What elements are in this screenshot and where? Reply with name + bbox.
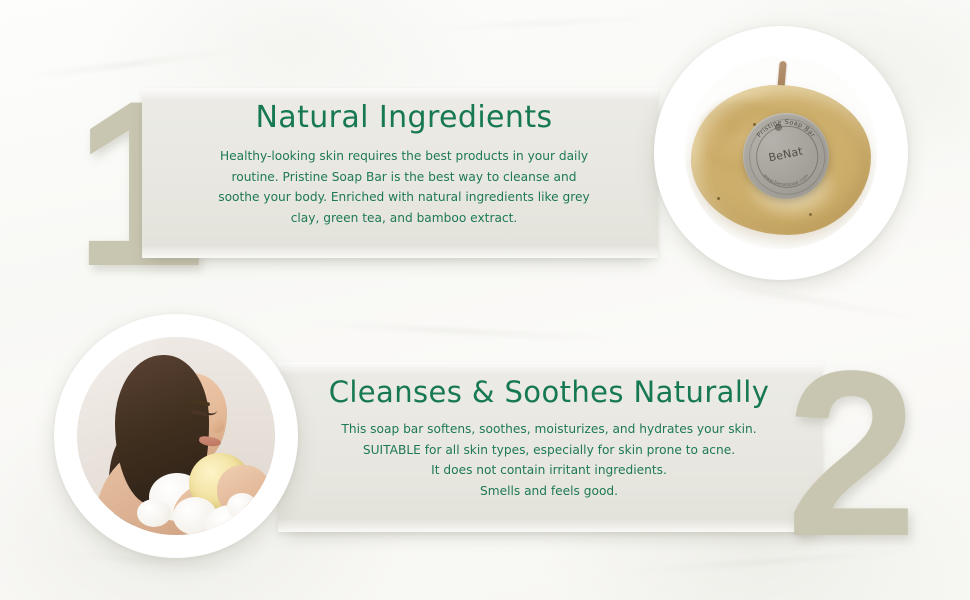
nose: [211, 419, 224, 433]
step-1-body-line: Healthy-looking skin requires the best p…: [218, 146, 589, 167]
shower-photo-inner: [77, 337, 275, 535]
step-number-2: 2: [786, 336, 913, 572]
step-2-body: This soap bar softens, soothes, moisturi…: [341, 419, 756, 501]
step-1-body-line: soothe your body. Enriched with natural …: [218, 187, 589, 208]
step-2-body-line: Smells and feels good.: [341, 481, 756, 502]
step-1-heading: Natural Ingredients: [255, 100, 552, 136]
soap-speck: [809, 213, 812, 216]
soap-speck: [717, 197, 720, 200]
step-1-body-line: routine. Pristine Soap Bar is the best w…: [218, 167, 589, 188]
step-1-banner: Natural Ingredients Healthy-looking skin…: [142, 88, 658, 258]
step-1-body: Healthy-looking skin requires the best p…: [218, 146, 589, 228]
marble-vein: [300, 321, 630, 341]
soap-bar-photo: Pristine Soap Bar www.benatsoap.com BeNa…: [654, 26, 908, 280]
product-benefits-infographic: 1 Natural Ingredients Healthy-looking sk…: [0, 0, 970, 600]
step-2-body-line: It does not contain irritant ingredients…: [341, 460, 756, 481]
shower-photo: [54, 314, 298, 558]
soap-scene: Pristine Soap Bar www.benatsoap.com BeNa…: [685, 57, 877, 249]
svg-text:www.benatsoap.com: www.benatsoap.com: [761, 165, 811, 194]
step-1-body-line: clay, green tea, and bamboo extract.: [218, 208, 589, 229]
soap-bar-photo-inner: Pristine Soap Bar www.benatsoap.com BeNa…: [685, 57, 877, 249]
step-2-body-line: This soap bar softens, soothes, moisturi…: [341, 419, 756, 440]
lather-foam: [137, 499, 171, 527]
marble-vein: [692, 278, 939, 323]
lather-foam: [227, 493, 257, 519]
step-2-banner: Cleanses & Soothes Naturally This soap b…: [278, 362, 822, 532]
shower-scene: [77, 337, 275, 535]
step-2-heading: Cleanses & Soothes Naturally: [329, 374, 770, 410]
soap-hang-tag: Pristine Soap Bar www.benatsoap.com BeNa…: [735, 105, 837, 207]
marble-vein: [420, 15, 680, 31]
step-2-body-line: SUITABLE for all skin types, especially …: [341, 440, 756, 461]
tag-bottom-text: www.benatsoap.com: [761, 165, 811, 194]
step-2-content: Cleanses & Soothes Naturally This soap b…: [278, 362, 822, 544]
step-1-content: Natural Ingredients Healthy-looking skin…: [142, 88, 658, 270]
